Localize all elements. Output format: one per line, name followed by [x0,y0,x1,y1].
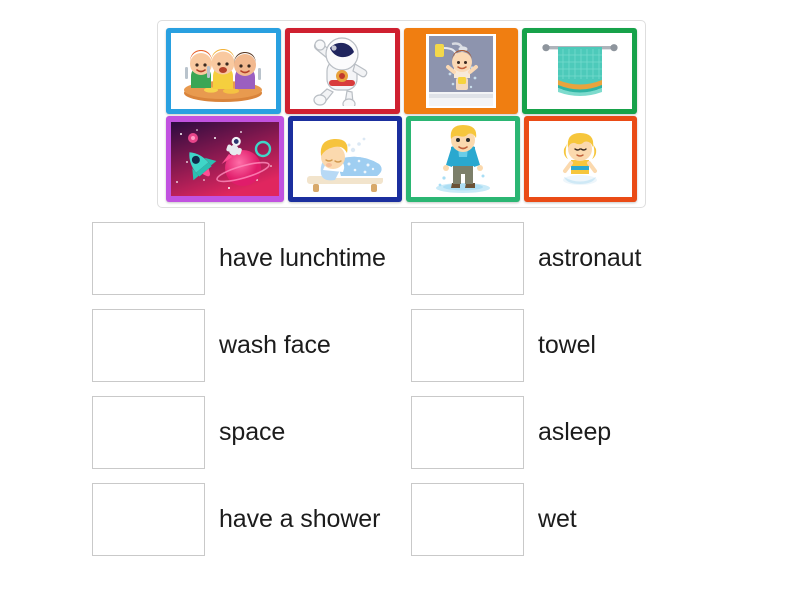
card-image-frame [409,33,514,109]
card-image-frame [171,121,279,197]
card-image-frame [171,33,276,109]
answer-row: have lunchtime [92,222,402,295]
card-image-frame [529,121,633,197]
picture-card-wash-face[interactable] [524,116,638,202]
answer-label-asleep: asleep [538,418,611,447]
picture-card-row [164,28,639,114]
picture-card-wet[interactable] [406,116,520,202]
answer-row: astronaut [411,222,731,295]
astronaut-floating-icon [303,36,381,106]
picture-card-space[interactable] [166,116,284,202]
hanging-towel-icon [531,37,629,105]
child-taking-shower-icon [426,34,496,108]
answer-label-have-lunchtime: have lunchtime [219,244,386,273]
outer-space-rocket-planet-icon [171,122,279,196]
card-image-frame [293,121,397,197]
answer-label-have-a-shower: have a shower [219,505,380,534]
picture-card-asleep[interactable] [288,116,402,202]
answers-column-right: astronaut towel asleep wet [411,222,731,570]
dropzone-towel[interactable] [411,309,524,382]
answer-row: asleep [411,396,731,469]
wet-boy-in-puddle-icon [432,123,494,195]
picture-card-towel[interactable] [522,28,637,114]
dropzone-space[interactable] [92,396,205,469]
picture-card-row [164,116,639,202]
dropzone-asleep[interactable] [411,396,524,469]
child-washing-face-icon [558,130,602,188]
picture-card-grid [157,20,646,208]
picture-card-have-a-shower[interactable] [404,28,519,114]
child-sleeping-in-bed-icon [293,124,397,194]
card-image-frame [290,33,395,109]
picture-card-have-lunchtime[interactable] [166,28,281,114]
dropzone-have-lunchtime[interactable] [92,222,205,295]
dropzone-have-a-shower[interactable] [92,483,205,556]
answer-row: space [92,396,402,469]
dropzone-astronaut[interactable] [411,222,524,295]
card-image-frame [527,33,632,109]
answer-label-wash-face: wash face [219,331,331,360]
card-image-frame [411,121,515,197]
answer-label-space: space [219,418,285,447]
answer-label-astronaut: astronaut [538,244,641,273]
answer-row: wet [411,483,731,556]
answer-label-wet: wet [538,505,577,534]
answer-row: wash face [92,309,402,382]
dropzone-wash-face[interactable] [92,309,205,382]
answer-row: towel [411,309,731,382]
answer-label-towel: towel [538,331,596,360]
answer-row: have a shower [92,483,402,556]
dropzone-wet[interactable] [411,483,524,556]
picture-card-astronaut[interactable] [285,28,400,114]
answers-column-left: have lunchtime wash face space have a sh… [92,222,402,570]
children-eating-lunch-icon [171,36,275,106]
